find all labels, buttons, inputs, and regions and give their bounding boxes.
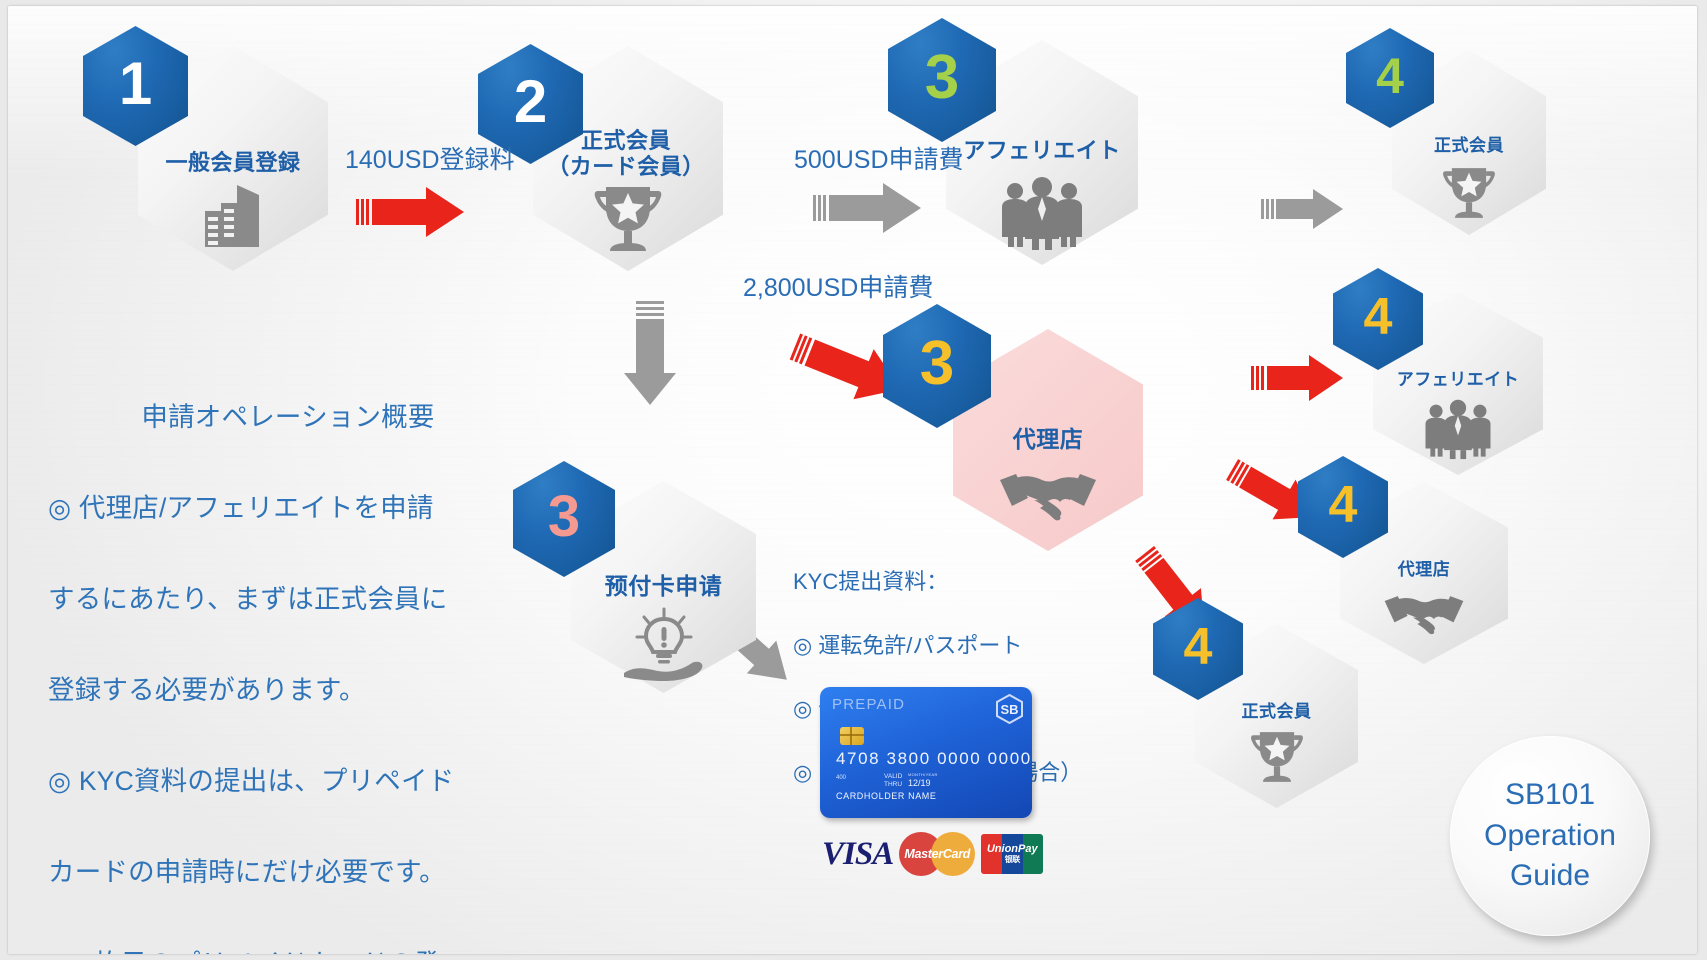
card-expiry: 12/19 [908,778,931,788]
fee-label-agency: 2,800USD申請費 [743,268,933,304]
lightbulb-hand-icon [571,606,756,682]
unionpay-label: UnionPay [987,844,1038,855]
card-valid-sub: MONTH/YEAR [908,772,938,777]
mastercard-logo-icon: MasterCard [899,832,975,876]
node-label: アフェリエイト [1366,370,1550,390]
node-formal-member-bottom[interactable]: 正式会員 4 [1153,598,1358,808]
card-chip-icon [840,727,864,745]
kyc-item-1: ◎ 運転免許/パスポート [793,633,1022,658]
trophy-icon [1195,726,1358,788]
overview-line-3: 登録する必要があります。 [48,675,366,705]
node-label: 正式会員 [1195,702,1358,722]
node-label: 代理店 [953,426,1143,453]
arrow-gray-affiliate-to-member [1261,186,1351,232]
card-brand-text: PREPAID [832,696,905,713]
unionpay-logo-icon: UnionPay 银联 [981,834,1043,874]
card-number: 4708 3800 0000 0000 [836,749,1032,769]
people-icon [946,173,1138,253]
node-prepaid-card-application[interactable]: 预付卡申请 3 [513,461,763,691]
overview-line-4: ◎ KYC資料の提出は、プリペイド [48,766,454,796]
kyc-heading: KYC提出資料： [793,569,948,594]
node-label: 预付卡申请 [571,573,756,600]
unionpay-sub-label: 银联 [1005,856,1020,864]
node-label: 正式会員 [1392,136,1546,156]
building-icon [138,181,328,251]
arrow-gray-down-to-prepaid [620,301,680,411]
card-cvv: 400 [836,775,846,781]
node-formal-member-card[interactable]: 正式会員 （カード会員） 2 [478,26,723,276]
node-label: 代理店 [1340,560,1508,580]
overview-line-2: するにあたり、まずは正式会員に [48,584,447,614]
node-label: アフェリエイト [936,138,1148,164]
node-formal-member-top[interactable]: 正式会員 4 [1346,28,1546,243]
overview-line-6: ◎ 1枚目のプリペイドカードの発 [48,949,441,954]
mastercard-label: MasterCard [899,832,975,876]
trophy-icon [533,181,723,256]
overview-heading: 申請オペレーション概要 [48,395,528,441]
fee-label-affiliate: 500USD申請費 [794,140,964,176]
payment-brand-logos: VISA MasterCard UnionPay 银联 [822,832,1043,876]
diagram-canvas: 一般会員登録 1 正式会員 （カード会員） [8,6,1697,954]
svg-text:SB: SB [1000,702,1018,717]
handshake-icon [1340,584,1508,646]
fee-label-registration: 140USD登録料 [345,140,515,176]
overview-line-5: カードの申請時にだけ必要です。 [48,857,446,887]
prepaid-card: PREPAID SB 4708 3800 0000 0000 400 VALID… [820,687,1032,818]
sb101-operation-guide-badge: SB101 Operation Guide [1450,736,1650,936]
handshake-icon [953,462,1143,532]
card-valid-label: VALID THRU [884,773,902,789]
overview-text: 申請オペレーション概要 ◎ 代理店/アフェリエイトを申請 するにあたり、まずは正… [48,349,528,954]
card-holder-name: CARDHOLDER NAME [836,791,937,801]
node-affiliate-right[interactable]: アフェリエイト [1333,268,1548,473]
sb-logo-icon: SB [996,694,1023,724]
people-icon [1373,396,1543,462]
visa-logo-icon: VISA [822,838,893,871]
overview-line-1: ◎ 代理店/アフェリエイトを申請 [48,493,434,523]
diagram-stage: 一般会員登録 1 正式会員 （カード会員） [0,0,1707,960]
arrow-red-1-to-2 [356,182,476,242]
node-agency[interactable]: 代理店 3 [883,304,1143,554]
node-label: 一般会員登録 [138,150,328,176]
trophy-icon [1392,162,1546,224]
node-general-member[interactable]: 一般会員登録 1 [83,26,328,276]
